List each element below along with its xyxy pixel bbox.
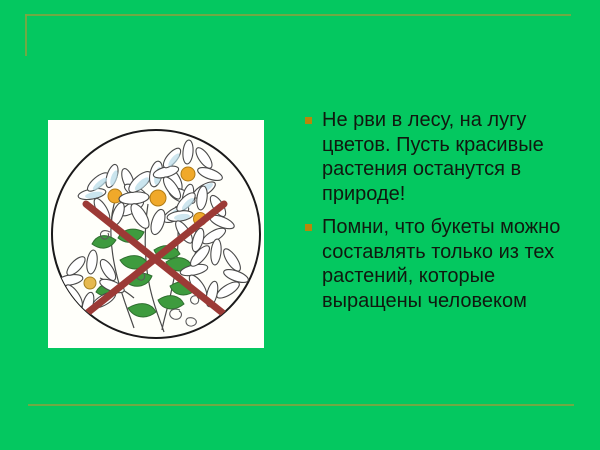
slide: Не рви в лесу, на лугу цветов. Пусть кра… [0, 0, 600, 450]
decorative-line-bottom-horizontal [28, 404, 574, 406]
bullet-list: Не рви в лесу, на лугу цветов. Пусть кра… [305, 108, 585, 322]
square-bullet-icon [305, 117, 312, 124]
list-item: Помни, что букеты можно составлять тольк… [305, 215, 585, 313]
square-bullet-icon [305, 224, 312, 231]
bullet-text: Помни, что букеты можно составлять тольк… [322, 215, 585, 313]
decorative-line-top-horizontal [25, 14, 571, 16]
bullet-text: Не рви в лесу, на лугу цветов. Пусть кра… [322, 108, 585, 206]
decorative-line-top-vertical [25, 14, 27, 56]
list-item: Не рви в лесу, на лугу цветов. Пусть кра… [305, 108, 585, 206]
no-picking-wild-flowers-image [48, 120, 264, 348]
